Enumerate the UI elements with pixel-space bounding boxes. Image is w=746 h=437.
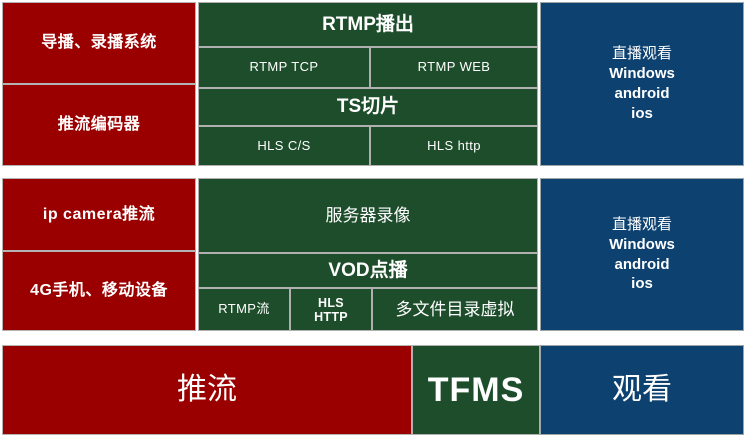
server-cell-server-recording[interactable]: 服务器录像 <box>198 178 538 253</box>
server-cell-hls-cs[interactable]: HLS C/S <box>198 126 370 166</box>
server-cell-rtmp-broadcast[interactable]: RTMP播出 <box>198 2 538 47</box>
client-line-4: ios <box>631 104 653 124</box>
footer-watch-text: 观看 <box>612 373 672 407</box>
client-box-vod[interactable]: 直播观看 Windows android ios <box>540 178 744 331</box>
source-box-live-2[interactable]: 推流编码器 <box>2 84 196 166</box>
server-cell-multifile-virtual[interactable]: 多文件目录虚拟 <box>372 288 538 331</box>
source-label: 导播、录播系统 <box>41 34 157 52</box>
server-cell-rtmp-stream[interactable]: RTMP流 <box>198 288 290 331</box>
server-cell-label: TS切片 <box>337 96 399 117</box>
server-cell-rtmp-tcp[interactable]: RTMP TCP <box>198 47 370 88</box>
source-box-vod-2[interactable]: 4G手机、移动设备 <box>2 251 196 331</box>
client-line-1: 直播观看 <box>612 44 672 64</box>
server-cell-label: VOD点播 <box>328 260 407 281</box>
source-box-live-1[interactable]: 导播、录播系统 <box>2 2 196 84</box>
source-label: 4G手机、移动设备 <box>30 282 168 300</box>
server-cell-rtmp-web[interactable]: RTMP WEB <box>370 47 538 88</box>
client-line-1: 直播观看 <box>612 215 672 235</box>
footer-label-watch[interactable]: 观看 <box>540 345 744 435</box>
client-line-2: Windows <box>609 235 675 255</box>
source-label: ip camera推流 <box>43 206 155 224</box>
server-cell-vod[interactable]: VOD点播 <box>198 253 538 288</box>
server-cell-label: HLS http <box>427 139 481 154</box>
client-line-2: Windows <box>609 64 675 84</box>
footer-label-push[interactable]: 推流 <box>2 345 412 435</box>
source-box-vod-1[interactable]: ip camera推流 <box>2 178 196 251</box>
server-cell-label-line2: HTTP <box>314 310 348 324</box>
server-cell-label: HLS C/S <box>257 139 310 154</box>
server-cell-label: RTMP TCP <box>250 60 319 75</box>
server-cell-label-line1: HLS <box>318 296 344 310</box>
server-cell-hls-http[interactable]: HLS http <box>370 126 538 166</box>
footer-push-text: 推流 <box>177 373 237 407</box>
server-cell-ts-slice[interactable]: TS切片 <box>198 88 538 126</box>
client-line-3: android <box>615 84 670 104</box>
server-cell-label: RTMP WEB <box>418 60 491 75</box>
client-line-3: android <box>615 255 670 275</box>
footer-tfms-text: TFMS <box>428 371 525 409</box>
client-box-live[interactable]: 直播观看 Windows android ios <box>540 2 744 166</box>
server-cell-hls-http-vod[interactable]: HLS HTTP <box>290 288 372 331</box>
architecture-diagram: 导播、录播系统 推流编码器 RTMP播出 RTMP TCP RTMP WEB T… <box>0 0 746 437</box>
server-cell-label: 服务器录像 <box>326 206 411 225</box>
footer-label-tfms[interactable]: TFMS <box>412 345 540 435</box>
server-cell-label: RTMP播出 <box>322 14 414 35</box>
client-line-4: ios <box>631 274 653 294</box>
server-cell-label: RTMP流 <box>218 302 270 317</box>
source-label: 推流编码器 <box>58 116 141 134</box>
server-cell-label: 多文件目录虚拟 <box>396 300 515 319</box>
